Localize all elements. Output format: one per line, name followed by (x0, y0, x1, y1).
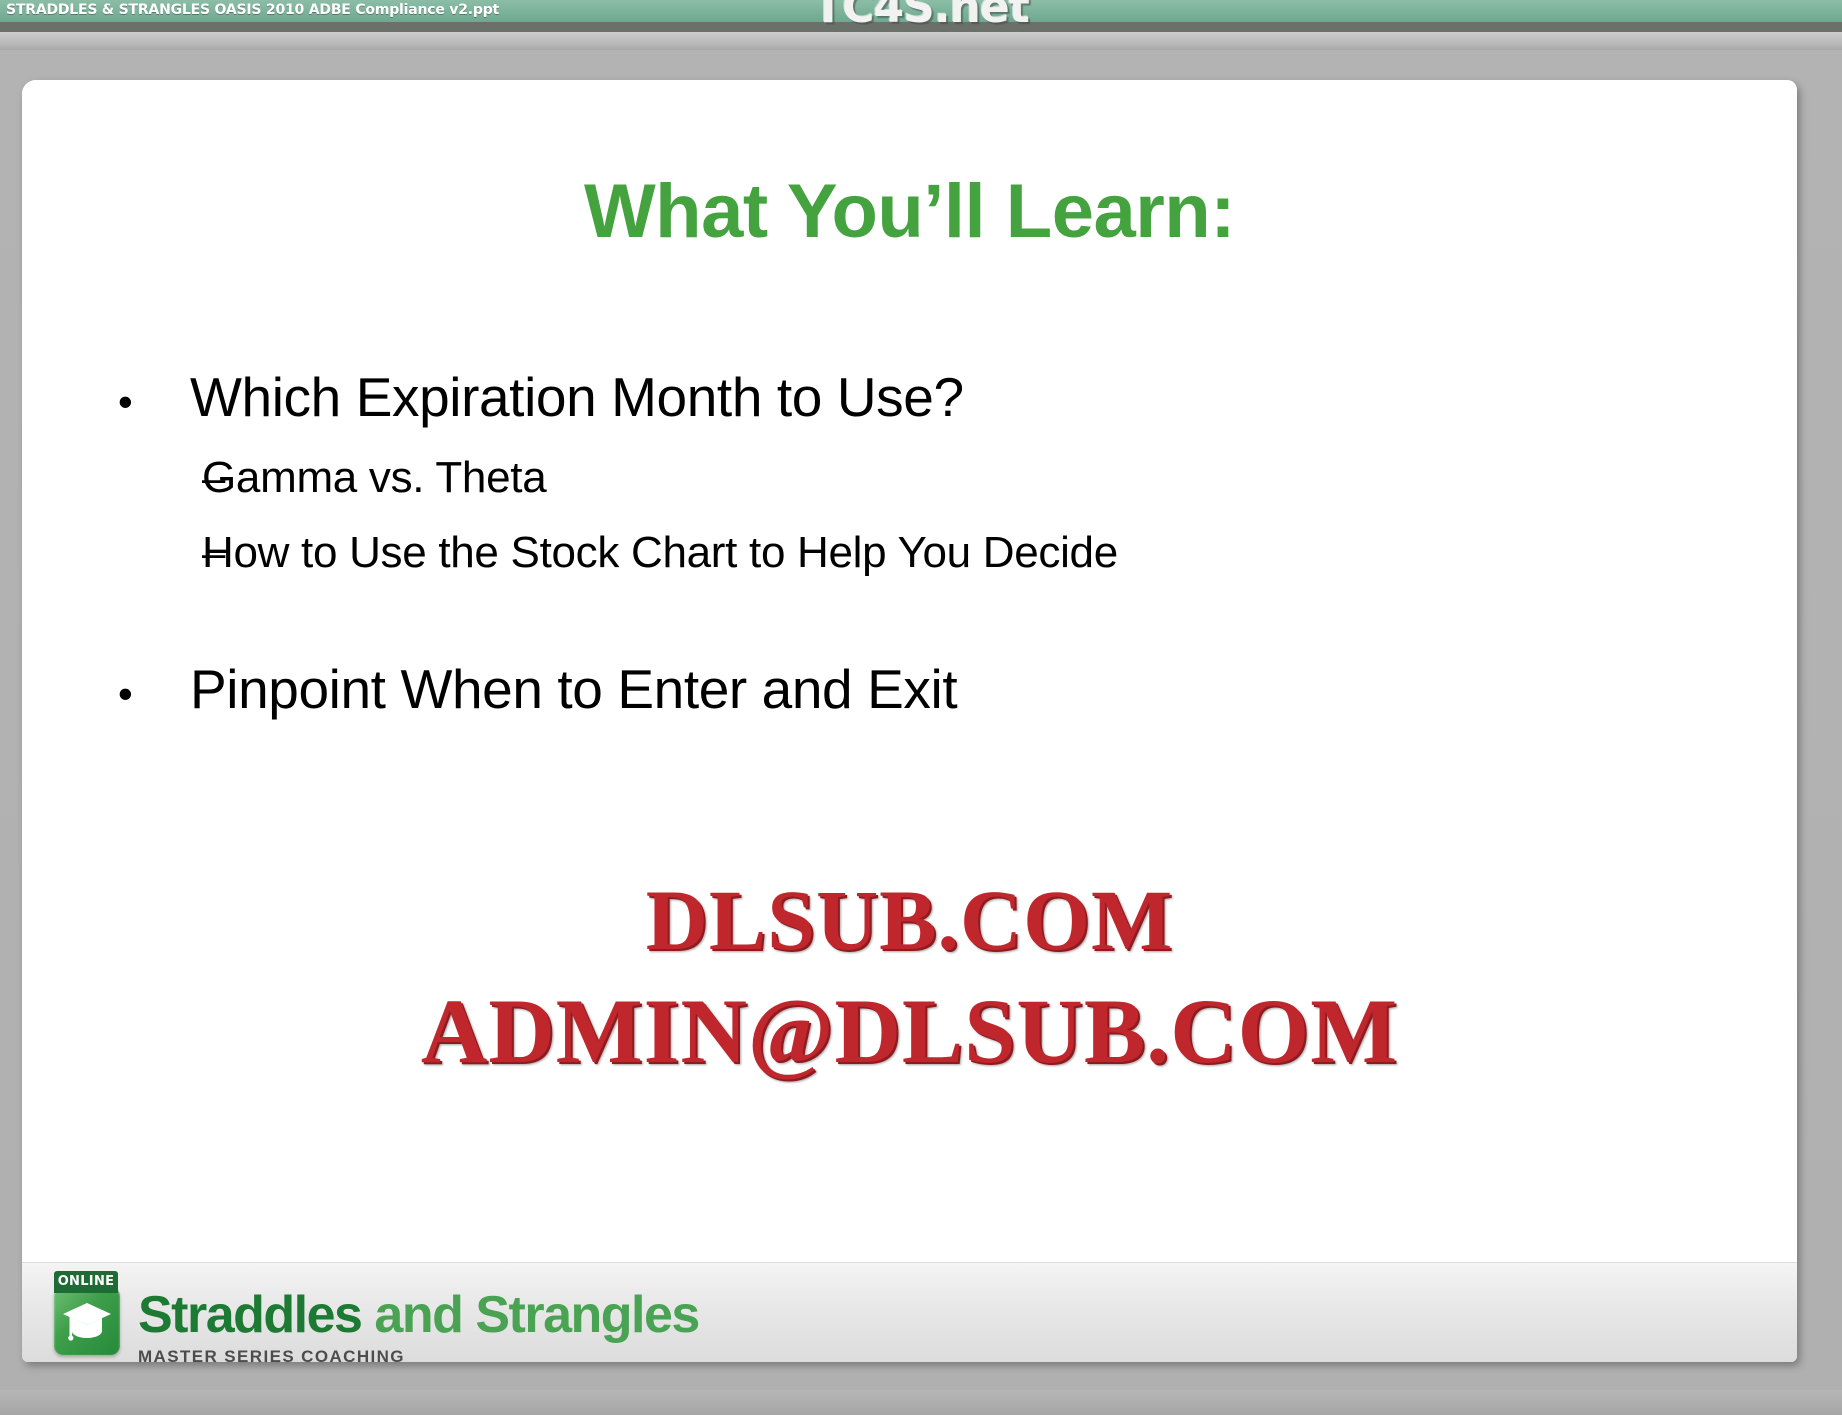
brand-name-part1: Straddles (138, 1286, 361, 1344)
bullet-text: Which Expiration Month to Use? (190, 368, 964, 427)
graduation-cap-icon (62, 1301, 112, 1341)
bullet-text: Gamma vs. Theta (202, 455, 546, 501)
toolbar-dark-strip (0, 22, 1842, 32)
bullet-marker-dash: – (118, 456, 202, 500)
toolbar-gray-strip (0, 32, 1842, 50)
logo-mark: ONLINE (50, 1271, 122, 1359)
presentation-slide: What You’ll Learn: • Which Expiration Mo… (22, 80, 1797, 1362)
window-title: STRADDLES & STRANGLES OASIS 2010 ADBE Co… (6, 2, 499, 18)
slide-content-area: What You’ll Learn: • Which Expiration Mo… (22, 80, 1797, 1262)
slide-footer: ONLINE Straddles and Strangles (22, 1262, 1797, 1362)
watermark-contact-email: ADMIN@DLSUB.COM (22, 978, 1797, 1084)
bullet-item-level1: • Pinpoint When to Enter and Exit (118, 660, 1718, 719)
bullet-list: • Which Expiration Month to Use? – Gamma… (118, 368, 1718, 719)
bullet-item-level2: – How to Use the Stock Chart to Help You… (118, 530, 1718, 576)
brand-name-conjunction: and (361, 1286, 475, 1344)
window-titlebar: STRADDLES & STRANGLES OASIS 2010 ADBE Co… (0, 0, 1842, 22)
watermark-site-url: DLSUB.COM (22, 870, 1797, 970)
brand-text: Straddles and Strangles MASTER SERIES CO… (138, 1271, 699, 1362)
bottom-status-bar (0, 1390, 1842, 1415)
brand-logo: ONLINE Straddles and Strangles (50, 1271, 699, 1362)
slide-viewer: STRADDLES & STRANGLES OASIS 2010 ADBE Co… (0, 0, 1842, 1415)
brand-name-part3: Strangles (475, 1286, 698, 1344)
bullet-item-level2: – Gamma vs. Theta (118, 455, 1718, 501)
online-badge: ONLINE (54, 1271, 118, 1293)
bullet-text: How to Use the Stock Chart to Help You D… (202, 530, 1118, 576)
logo-tile (54, 1287, 120, 1355)
bullet-marker-dot: • (118, 381, 190, 423)
bullet-group-spacer (118, 576, 1718, 660)
bullet-marker-dash: – (118, 531, 202, 575)
brand-tagline: MASTER SERIES COACHING (138, 1347, 699, 1362)
bullet-marker-dot: • (118, 673, 190, 715)
brand-name: Straddles and Strangles (138, 1289, 699, 1341)
bullet-item-level1: • Which Expiration Month to Use? (118, 368, 1718, 427)
page-background: What You’ll Learn: • Which Expiration Mo… (0, 50, 1842, 1415)
bullet-text: Pinpoint When to Enter and Exit (190, 660, 957, 719)
slide-title: What You’ll Learn: (22, 168, 1797, 255)
